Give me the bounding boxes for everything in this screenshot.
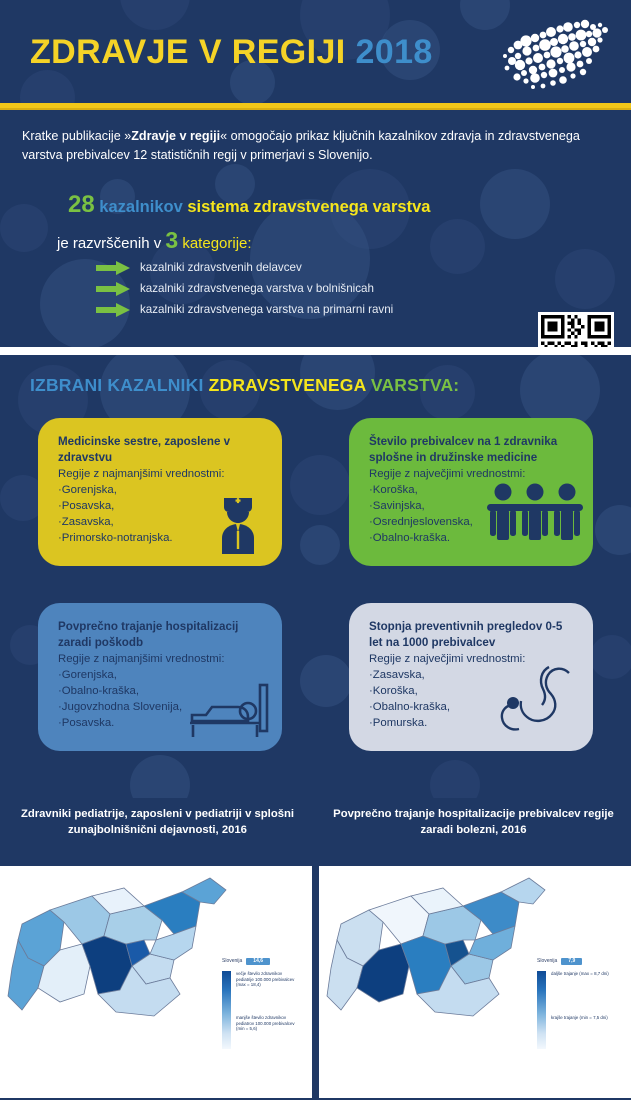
legend-gradient-bar	[222, 971, 231, 1049]
category-prefix: je razvrščenih v	[57, 235, 161, 252]
card-medicinske-sestre[interactable]: Medicinske sestre, zaposlene v zdravstvu…	[38, 418, 282, 566]
card-subtitle: Regije z največjimi vrednostmi:	[369, 466, 577, 482]
three-people-icon	[485, 482, 585, 540]
list-item: kazalniki zdravstvenih delavcev	[96, 257, 516, 278]
section-title-b: ZDRAVSTVENEGA	[209, 375, 366, 395]
qr-block: obcine.nijz.si	[538, 312, 614, 347]
legend-gradient-wrap: daljše trajanje (max = 8,7 dni) krajše t…	[537, 971, 613, 1049]
slovenia-value-row: Slovenija 7,9	[537, 958, 613, 965]
intro-bold: Zdravje v regiji	[131, 129, 220, 143]
hospital-bed-icon	[186, 681, 276, 743]
legend-label-bottom: krajše trajanje (min = 7,5 dni)	[551, 1015, 608, 1020]
page-title-year: 2018	[355, 33, 432, 71]
legend-gradient-wrap: večje število zdravnikov pediatrije 100.…	[222, 971, 298, 1049]
map-panel-right[interactable]: Slovenija 7,9 daljše trajanje (max = 8,7…	[319, 866, 631, 1098]
section-title: IZBRANI KAZALNIKI ZDRAVSTVENEGA VARSTVA:	[30, 375, 459, 396]
map-panel-left[interactable]: Slovenija 14,6 večje število zdravnikov …	[0, 866, 312, 1098]
section-title-a: IZBRANI KAZALNIKI	[30, 375, 204, 395]
intro-section: Kratke publikacije »Zdravje v regiji« om…	[0, 109, 631, 347]
white-divider	[0, 347, 631, 355]
slovenia-value: 7,9	[561, 958, 582, 965]
slovenia-label: Slovenija	[222, 959, 242, 964]
list-item-label: kazalniki zdravstvenega varstva na prima…	[140, 303, 393, 316]
map-legend-right: Slovenija 7,9 daljše trajanje (max = 8,7…	[537, 958, 613, 1049]
slovenia-dotted-map-icon	[493, 16, 613, 94]
slovenia-choropleth-map	[323, 870, 553, 1040]
indicator-system-label: sistema zdravstvenega varstva	[187, 198, 430, 216]
legend-labels: večje število zdravnikov pediatrije 100.…	[236, 971, 298, 1049]
maps-section: Zdravniki pediatrije, zaposleni v pediat…	[0, 798, 631, 1100]
category-count: 3	[165, 227, 178, 253]
indicator-count-label: kazalnikov	[99, 198, 182, 216]
map-title-text: Povprečno trajanje hospitalizacije prebi…	[316, 806, 631, 838]
slovenia-label: Slovenija	[537, 959, 557, 964]
list-item-label: kazalniki zdravstvenega varstva v bolniš…	[140, 282, 374, 295]
card-title: Število prebivalcev na 1 zdravnika sploš…	[369, 434, 577, 465]
category-count-line: je razvrščenih v 3 kategorije:	[57, 227, 252, 254]
map-legend-left: Slovenija 14,6 večje število zdravnikov …	[222, 958, 298, 1049]
slovenia-choropleth-map	[4, 870, 234, 1040]
green-arrow-icon	[96, 282, 130, 296]
map-divider	[313, 866, 316, 1098]
qr-code-icon[interactable]	[538, 312, 614, 347]
green-arrow-icon	[96, 303, 130, 317]
list-item: kazalniki zdravstvenega varstva v bolniš…	[96, 278, 516, 299]
indicator-count: 28	[68, 191, 95, 218]
intro-part1: Kratke publikacije »	[22, 129, 131, 143]
card-stevilo-prebivalcev[interactable]: Število prebivalcev na 1 zdravnika sploš…	[349, 418, 593, 566]
stethoscope-icon	[491, 663, 583, 741]
nurse-icon	[210, 484, 266, 554]
slovenia-value-row: Slovenija 14,6	[222, 958, 298, 965]
card-preventivni-pregledi[interactable]: Stopnja preventivnih pregledov 0-5 let n…	[349, 603, 593, 751]
page-title-main: ZDRAVJE V REGIJI	[30, 33, 346, 71]
section-title-c: VARSTVA:	[371, 375, 459, 395]
green-arrow-icon	[96, 261, 130, 275]
map-title-left: Zdravniki pediatrije, zaposleni v pediat…	[0, 806, 315, 864]
card-title: Povprečno trajanje hospitalizacij zaradi…	[58, 619, 266, 650]
map-title-text: Zdravniki pediatrije, zaposleni v pediat…	[0, 806, 315, 838]
list-item-label: kazalniki zdravstvenih delavcev	[140, 261, 302, 274]
legend-label-bottom: manjše število zdravnikov pediatrov 100.…	[236, 1015, 298, 1031]
card-title: Medicinske sestre, zaposlene v zdravstvu	[58, 434, 266, 465]
card-subtitle: Regije z najmanjšimi vrednostmi:	[58, 651, 266, 667]
legend-labels: daljše trajanje (max = 8,7 dni) krajše t…	[551, 971, 613, 1049]
page-title: ZDRAVJE V REGIJI 2018	[30, 33, 433, 72]
intro-paragraph: Kratke publikacije »Zdravje v regiji« om…	[22, 127, 612, 165]
category-list: kazalniki zdravstvenih delavcev kazalnik…	[96, 257, 516, 320]
selected-indicators-section: IZBRANI KAZALNIKI ZDRAVSTVENEGA VARSTVA:…	[0, 355, 631, 798]
card-trajanje-hospitalizacij[interactable]: Povprečno trajanje hospitalizacij zaradi…	[38, 603, 282, 751]
card-title: Stopnja preventivnih pregledov 0-5 let n…	[369, 619, 577, 650]
slovenia-value: 14,6	[246, 958, 270, 965]
indicator-count-line: 28 kazalnikov sistema zdravstvenega vars…	[68, 191, 430, 219]
header: ZDRAVJE V REGIJI 2018	[0, 0, 631, 105]
legend-label-top: daljše trajanje (max = 8,7 dni)	[551, 971, 609, 976]
card-subtitle: Regije z najmanjšimi vrednostmi:	[58, 466, 266, 482]
legend-gradient-bar	[537, 971, 546, 1049]
map-title-right: Povprečno trajanje hospitalizacije prebi…	[316, 806, 631, 864]
infographic-page: ZDRAVJE V REGIJI 2018	[0, 0, 631, 1100]
category-suffix: kategorije:	[182, 235, 251, 252]
list-item: kazalniki zdravstvenega varstva na prima…	[96, 299, 516, 320]
legend-label-top: večje število zdravnikov pediatrije 100.…	[236, 971, 298, 987]
